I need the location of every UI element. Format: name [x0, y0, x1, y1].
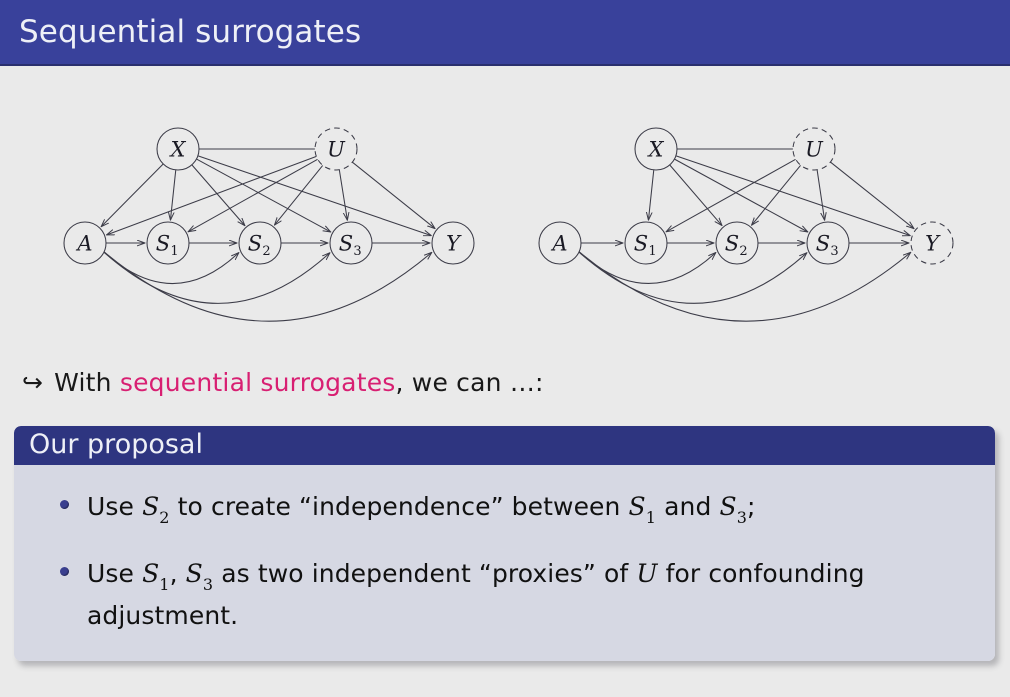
dag-node-X: X — [635, 128, 677, 170]
math-subscript: 2 — [159, 508, 169, 527]
svg-text:3: 3 — [353, 244, 361, 259]
math-variable: S — [186, 559, 203, 588]
slide-title-bar: Sequential surrogates — [0, 0, 1010, 66]
svg-text:Y: Y — [925, 232, 941, 256]
math-variable: S — [720, 492, 737, 521]
svg-text:S: S — [816, 232, 830, 256]
dag-node-Y: Y — [432, 222, 474, 264]
dag-nodes: AS1S2S3YXU — [64, 128, 474, 264]
lead-in-text-after: , we can …: — [396, 368, 544, 397]
lead-in-line: ↪With sequential surrogates, we can …: — [22, 368, 544, 397]
svg-text:Y: Y — [446, 232, 462, 256]
math-variable: U — [636, 559, 657, 588]
dag-edge-U-to-S3 — [817, 170, 824, 220]
svg-text:1: 1 — [648, 244, 656, 259]
dag-edge-X-to-S2 — [192, 165, 245, 225]
dag-edge-A-to-S3 — [578, 251, 807, 303]
svg-text:2: 2 — [739, 244, 747, 259]
dag-edge-U-to-A — [107, 157, 316, 235]
svg-text:U: U — [327, 138, 346, 162]
dag-edge-U-to-Y — [353, 163, 435, 229]
dag-node-S2: S2 — [716, 222, 758, 264]
proposal-block-title: Our proposal — [29, 429, 203, 460]
dag-nodes: AS1S2S3YXU — [539, 128, 953, 264]
svg-text:S: S — [725, 232, 739, 256]
math-variable: S — [142, 559, 159, 588]
svg-text:S: S — [248, 232, 262, 256]
svg-text:A: A — [75, 232, 92, 256]
dag-edge-X-to-S3 — [675, 159, 808, 232]
svg-text:1: 1 — [170, 244, 178, 259]
dag-edge-X-to-S3 — [197, 159, 331, 232]
proposal-block-title-bar: Our proposal — [14, 426, 995, 465]
math-subscript: 3 — [203, 575, 213, 594]
dag-observed-outcome: AS1S2S3YXU — [22, 66, 492, 326]
svg-text:X: X — [169, 138, 187, 162]
bullet-dot-icon — [60, 567, 69, 576]
lead-in-text-before: With — [54, 368, 120, 397]
dag-node-S3: S3 — [807, 222, 849, 264]
svg-text:S: S — [339, 232, 353, 256]
list-item-text: Use S1, S3 as two independent “proxies” … — [87, 554, 965, 635]
proposal-block: Our proposal Use S2 to create “independe… — [14, 426, 995, 661]
svg-text:A: A — [550, 232, 567, 256]
diagrams-container: AS1S2S3YXU AS1S2S3YXU — [0, 66, 1010, 356]
hook-right-arrow-icon: ↪ — [22, 368, 43, 397]
dag-edge-U-to-Y — [831, 162, 914, 228]
dag-node-S3: S3 — [330, 222, 372, 264]
dag-node-S2: S2 — [239, 222, 281, 264]
dag-edge-X-to-S1 — [648, 170, 653, 219]
math-subscript: 1 — [159, 575, 169, 594]
dag-edge-A-to-S3 — [103, 251, 330, 303]
dag-node-A: A — [539, 222, 581, 264]
math-variable: S — [629, 492, 646, 521]
svg-text:S: S — [634, 232, 648, 256]
svg-text:X: X — [647, 138, 665, 162]
proposal-block-body: Use S2 to create “independence” between … — [14, 465, 995, 661]
svg-text:3: 3 — [830, 244, 838, 259]
dag-edge-U-to-S3 — [339, 170, 347, 220]
dag-node-X: X — [157, 128, 199, 170]
dag-node-S1: S1 — [147, 222, 189, 264]
math-subscript: 1 — [646, 508, 656, 527]
svg-text:S: S — [156, 232, 170, 256]
lead-in-emphasis: sequential surrogates — [120, 368, 396, 397]
dag-edge-X-to-S2 — [670, 165, 722, 225]
dag-edge-X-to-S1 — [170, 170, 175, 219]
svg-text:2: 2 — [262, 244, 270, 259]
math-subscript: 3 — [737, 508, 747, 527]
svg-text:U: U — [805, 138, 824, 162]
dag-node-U-unobserved: U — [315, 128, 357, 170]
list-item: Use S2 to create “independence” between … — [44, 487, 965, 529]
dag-node-U-unobserved: U — [793, 128, 835, 170]
math-variable: S — [142, 492, 159, 521]
dag-node-A: A — [64, 222, 106, 264]
dag-node-Y-unobserved: Y — [911, 222, 953, 264]
dag-node-S1: S1 — [625, 222, 667, 264]
list-item-text: Use S2 to create “independence” between … — [87, 487, 756, 529]
list-item: Use S1, S3 as two independent “proxies” … — [44, 554, 965, 635]
dag-surrogate-outcome: AS1S2S3YXU — [510, 66, 980, 326]
page-title: Sequential surrogates — [19, 14, 361, 50]
bullet-dot-icon — [60, 500, 69, 509]
